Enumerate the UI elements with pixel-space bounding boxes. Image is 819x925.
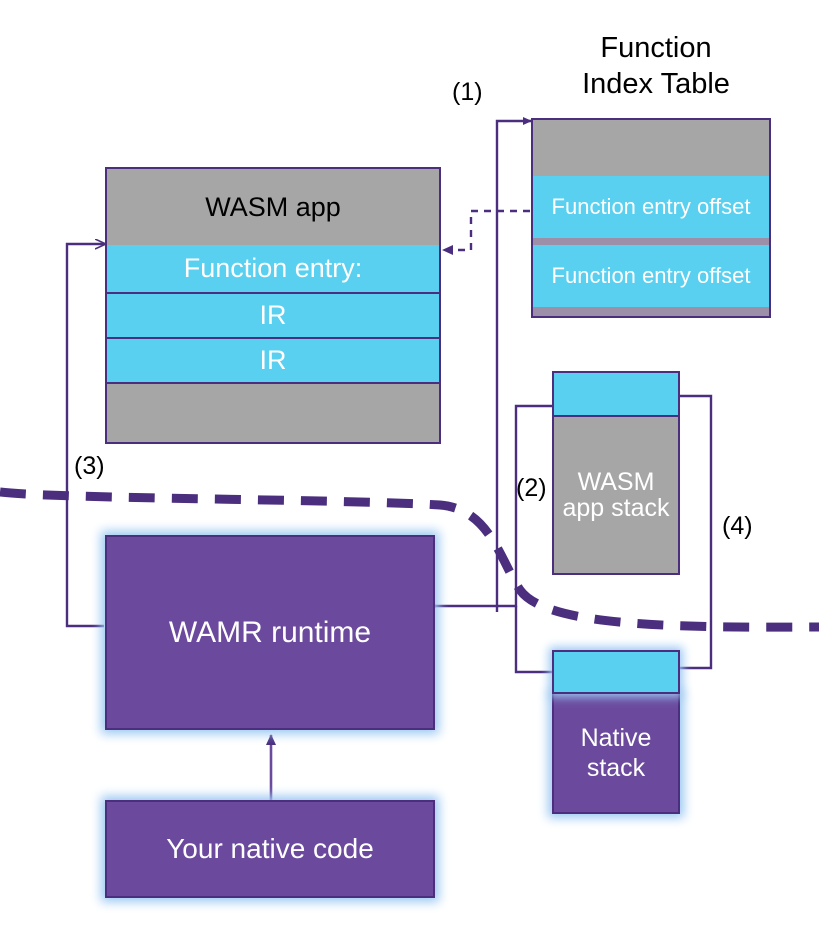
wasm-app-header-label: WASM app bbox=[205, 193, 341, 221]
step-label-3: (3) bbox=[74, 452, 105, 481]
wasm-app-row-empty bbox=[107, 384, 439, 442]
connector-step-3 bbox=[67, 244, 105, 626]
wasm-app-stack-box[interactable]: WASM app stack bbox=[552, 371, 680, 575]
step-label-1: (1) bbox=[452, 78, 483, 107]
native-stack-group[interactable]: Native stack bbox=[552, 650, 680, 814]
native-stack-label-line2: stack bbox=[587, 753, 645, 783]
native-stack-body: Native stack bbox=[552, 694, 680, 814]
fit-row-divider-1 bbox=[533, 238, 769, 245]
fit-row-offset-2[interactable]: Function entry offset bbox=[533, 245, 769, 307]
fit-row-offset-2-label: Function entry offset bbox=[552, 264, 751, 287]
fit-title-line1: Function bbox=[531, 30, 781, 66]
step-label-2: (2) bbox=[516, 474, 547, 503]
wasm-app-header: WASM app bbox=[107, 169, 439, 245]
wasm-app-row-ir-2[interactable]: IR bbox=[107, 339, 439, 384]
wasm-app-ir-1-label: IR bbox=[260, 301, 287, 329]
fit-title-line2: Index Table bbox=[531, 66, 781, 102]
wasm-app-box[interactable]: WASM app Function entry: IR IR bbox=[105, 167, 441, 444]
fit-row-header bbox=[533, 120, 769, 176]
wasm-app-row-function-entry[interactable]: Function entry: bbox=[107, 245, 439, 294]
fit-row-offset-1-label: Function entry offset bbox=[552, 195, 751, 218]
connector-step-1 bbox=[497, 121, 531, 612]
wasm-app-function-entry-label: Function entry: bbox=[184, 254, 363, 282]
wasm-app-ir-2-label: IR bbox=[260, 346, 287, 374]
wasm-app-row-ir-1[interactable]: IR bbox=[107, 294, 439, 339]
step-label-4: (4) bbox=[722, 512, 753, 541]
wamr-runtime-label: WAMR runtime bbox=[169, 616, 371, 649]
diagram-canvas: Function Index Table Function entry offs… bbox=[0, 0, 819, 925]
native-stack-header[interactable] bbox=[552, 650, 680, 694]
function-index-table[interactable]: Function entry offset Function entry off… bbox=[531, 118, 771, 318]
wasm-app-stack-body: WASM app stack bbox=[554, 417, 678, 573]
your-native-code-label: Your native code bbox=[166, 834, 374, 865]
wamr-runtime-box[interactable]: WAMR runtime bbox=[105, 535, 435, 730]
your-native-code-box[interactable]: Your native code bbox=[105, 800, 435, 898]
fit-row-offset-1[interactable]: Function entry offset bbox=[533, 176, 769, 238]
fit-row-divider-2 bbox=[533, 307, 769, 316]
function-index-table-title: Function Index Table bbox=[531, 30, 781, 103]
wasm-app-stack-label-line2: app stack bbox=[562, 495, 669, 521]
wasm-app-stack-header[interactable] bbox=[554, 373, 678, 417]
native-stack-label-line1: Native bbox=[581, 723, 652, 753]
wasm-app-stack-label-line1: WASM bbox=[578, 469, 655, 495]
